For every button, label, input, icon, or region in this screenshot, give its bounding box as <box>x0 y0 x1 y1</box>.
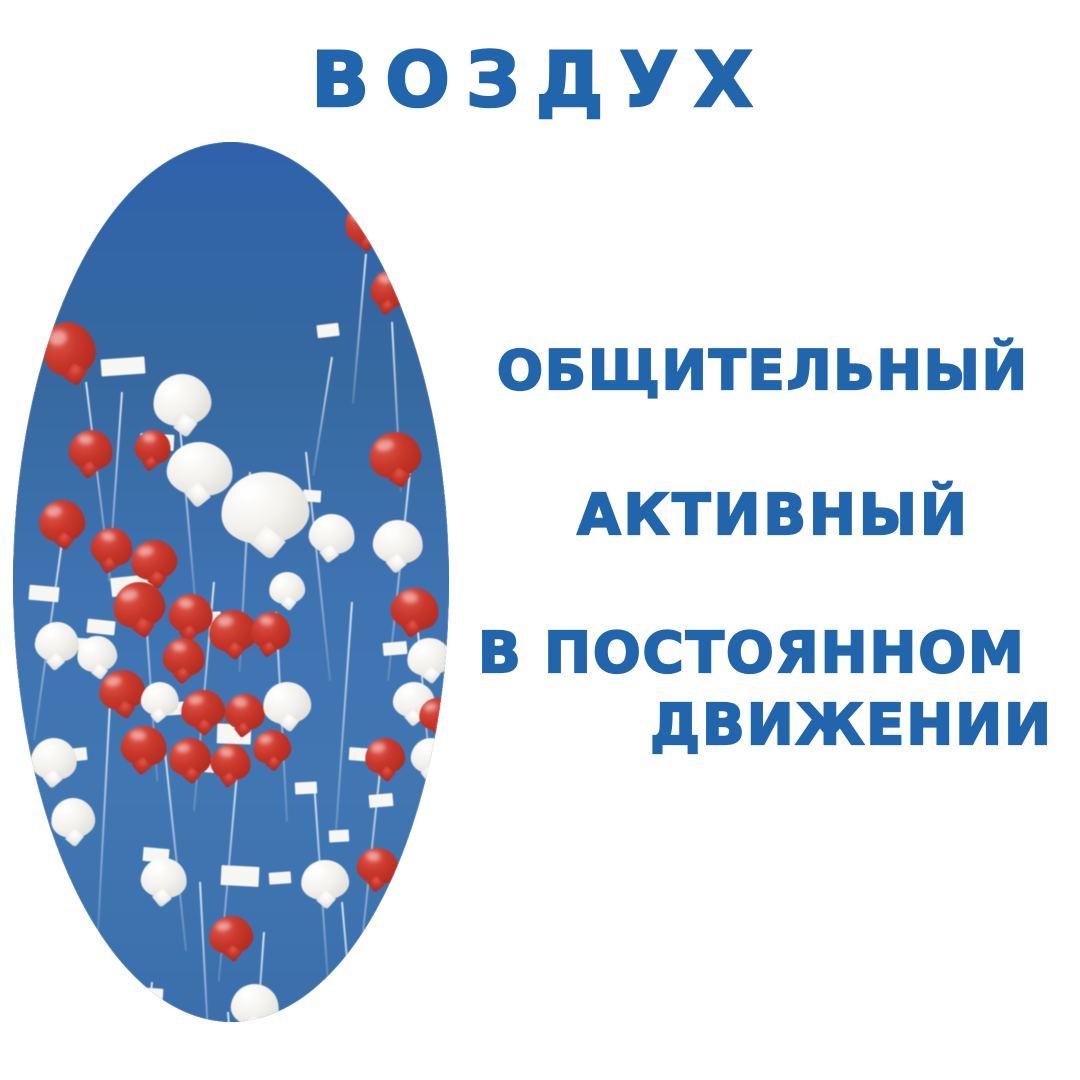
balloon-red <box>248 609 293 653</box>
balloon-white <box>49 796 96 840</box>
balloon-red <box>161 636 207 678</box>
balloon-white <box>267 570 306 606</box>
balloon-red <box>363 736 407 776</box>
balloon-tag <box>295 781 318 794</box>
page-title: ВОЗДУХ <box>0 38 1080 122</box>
balloon-string <box>334 602 352 842</box>
balloon-white <box>300 858 351 901</box>
balloon-white <box>150 370 215 430</box>
balloon-string <box>312 357 332 476</box>
balloon-white <box>218 468 312 547</box>
balloon-red <box>132 427 173 467</box>
balloon-red <box>355 845 402 886</box>
balloon-red <box>88 524 137 570</box>
balloon-red <box>208 741 253 783</box>
balloon-tag <box>269 871 292 885</box>
oval-photo-frame <box>13 142 449 1022</box>
balloon-red <box>37 498 87 545</box>
balloon-string <box>341 902 358 1022</box>
balloon-tag <box>368 793 393 808</box>
balloon-tag <box>28 585 59 603</box>
balloon-white <box>409 736 449 777</box>
balloon-white <box>164 439 235 500</box>
trait-motion-line-2: ДВИЖЕНИИ <box>478 694 1053 758</box>
balloon-red <box>119 724 169 769</box>
balloon-red <box>365 427 425 483</box>
balloon-white <box>29 736 78 782</box>
balloon-red <box>369 268 410 311</box>
balloon-string <box>199 882 210 1022</box>
balloon-tag <box>316 323 339 339</box>
balloon-white <box>229 982 280 1022</box>
poster-canvas: ВОЗДУХ <box>0 0 1080 1080</box>
balloon-white <box>34 621 81 664</box>
balloon-white <box>139 856 189 901</box>
balloon-white <box>261 680 313 727</box>
balloon-tag <box>221 865 260 887</box>
balloons-sky-photo <box>13 142 449 1022</box>
balloon-tag <box>329 829 350 842</box>
balloon-red <box>37 317 101 382</box>
balloon-white <box>371 518 425 566</box>
balloon-string <box>305 452 331 681</box>
balloon-string <box>97 702 111 932</box>
balloon-white <box>306 511 357 557</box>
trait-communicative: ОБЩИТЕЛЬНЫЙ <box>497 340 1029 402</box>
trait-active: АКТИВНЫЙ <box>497 484 1050 548</box>
balloon-tag <box>139 987 164 1003</box>
balloon-red <box>342 201 386 247</box>
balloon-tag <box>382 641 407 656</box>
trait-motion-line-1: В ПОСТОЯННОМ <box>478 622 1026 686</box>
balloon-tag <box>100 356 145 376</box>
balloon-red <box>251 728 293 766</box>
balloon-string <box>352 254 367 404</box>
balloon-white <box>405 635 449 678</box>
balloon-red <box>207 913 255 956</box>
balloon-red <box>67 428 115 472</box>
balloon-tag <box>86 619 115 636</box>
